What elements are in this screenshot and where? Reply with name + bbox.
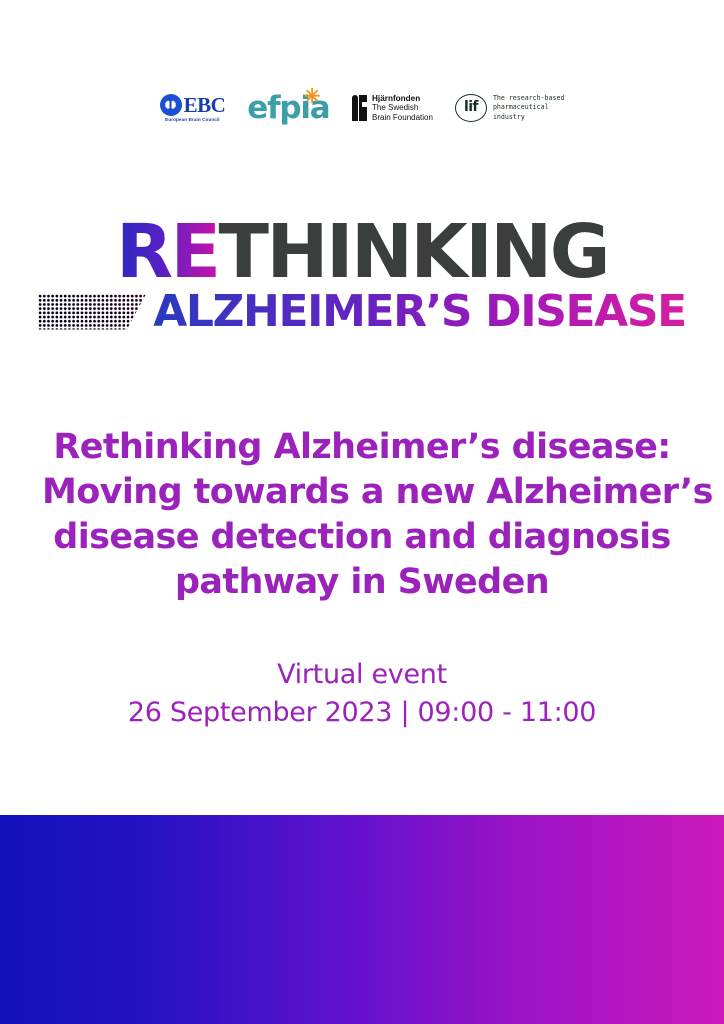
brand-word-re: RE [116,209,219,295]
logo-ebc-tagline: European Brain Council [165,117,220,122]
logo-hjarnfonden-wordmark: Hjärnfonden [372,94,433,104]
logo-hjarnfonden-line2: The Swedish [372,103,433,112]
page-title: Rethinking Alzheimer’s disease: Moving t… [42,425,682,606]
logo-ebc-main: EBC [160,94,226,116]
logo-ebc-wordmark: EBC [184,95,226,116]
hjarnfonden-mark-icon [352,95,368,121]
logo-lif-text: The research-based pharmaceutical indust… [493,94,564,123]
page-title-line-1: Rethinking Alzheimer’s disease: [42,425,682,470]
campaign-brand-lockup: RETHINKING ALZHEIMER’S DISEASE [0,218,724,334]
brand-line-one: RETHINKING [0,218,724,288]
logo-hjarnfonden-text: Hjärnfonden The Swedish Brain Foundation [372,94,433,123]
logo-lif-wordmark: lif [455,94,487,122]
footer-gradient-band [0,815,724,1024]
asterisk-icon: ✳ [304,87,321,107]
event-date-time: 26 September 2023 | 09:00 - 11:00 [0,695,724,731]
brand-word-thinking: THINKING [219,209,608,295]
page-title-line-3: disease detection and diagnosis [42,515,682,560]
page-title-line-4: pathway in Sweden [42,560,682,605]
logo-lif-line3: industry [493,113,564,123]
brand-word-alzheimers-disease: ALZHEIMER’S DISEASE [153,290,686,334]
partner-logo-row: EBC European Brain Council efpia ✳ Hjärn… [0,82,724,134]
halftone-block-icon [38,294,146,330]
logo-hjarnfonden: Hjärnfonden The Swedish Brain Foundation [352,94,433,123]
logo-lif-line1: The research-based [493,94,564,104]
logo-hjarnfonden-line3: Brain Foundation [372,113,433,122]
brain-icon [160,94,182,116]
logo-lif-line2: pharmaceutical [493,103,564,113]
page-title-line-2: Moving towards a new Alzheimer’s [42,470,682,515]
brand-line-two: ALZHEIMER’S DISEASE [0,290,724,334]
event-format: Virtual event [0,657,724,693]
logo-lif: lif The research-based pharmaceutical in… [455,94,564,123]
event-details: Virtual event 26 September 2023 | 09:00 … [0,657,724,730]
logo-ebc: EBC European Brain Council [160,94,226,122]
logo-efpia: efpia ✳ [247,93,329,124]
poster-page: EBC European Brain Council efpia ✳ Hjärn… [0,0,724,1024]
